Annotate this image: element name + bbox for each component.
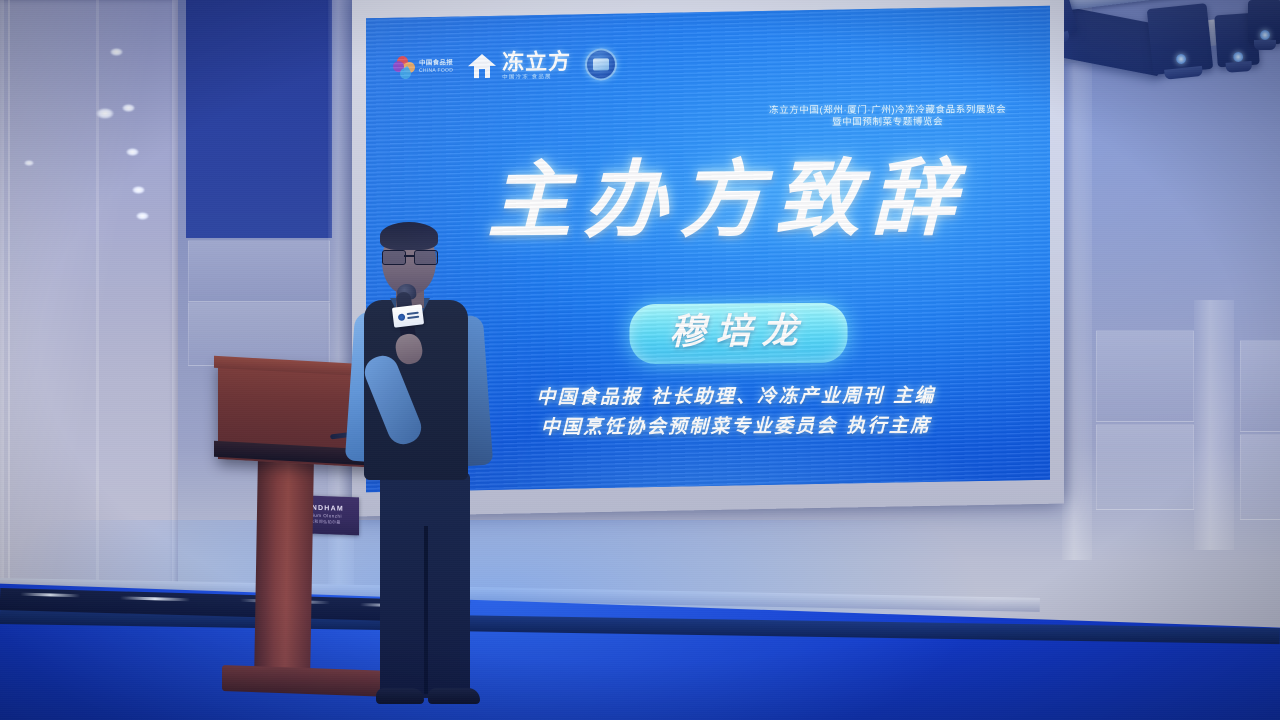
stage-spotlight — [1248, 0, 1280, 44]
cctv-logo-text: 中国食品报 CHINA FOOD — [419, 59, 453, 73]
wall-panel — [1240, 434, 1280, 520]
slide-main-title: 主办方致辞 — [487, 150, 967, 249]
glasses-icon — [382, 250, 438, 264]
sponsor-logo-row: 中国食品报 CHINA FOOD 冻立方 中国冷冻 食品展 — [392, 48, 617, 83]
mic-flag-logo-icon — [397, 313, 405, 321]
wall-panel — [188, 302, 330, 366]
ceiling-pinlight — [122, 104, 135, 112]
spotlight-lens — [1260, 30, 1270, 40]
left-dark-panel — [186, 0, 332, 238]
shoe-right — [428, 688, 480, 704]
rail-glint — [20, 593, 80, 598]
ceiling-pinlight — [132, 186, 145, 194]
ceiling-pinlight — [126, 148, 139, 156]
brand-subtitle: 中国冷冻 食品展 — [502, 74, 552, 81]
house-arrow-icon — [467, 53, 497, 79]
cctv-logo-line2: CHINA FOOD — [419, 67, 453, 73]
stage-spotlight — [1147, 3, 1214, 75]
wall-panel — [188, 240, 330, 302]
speaker-name-badge: 穆培龙 — [630, 303, 848, 364]
dong-li-fang-brand: 冻立方 中国冷冻 食品展 — [502, 50, 571, 80]
wall-panel — [1240, 340, 1280, 432]
event-header: 冻立方中国(郑州·厦门·广州)冷冻冷藏食品系列展览会 暨中国预制菜专题博览会 — [769, 104, 1006, 129]
wall-seam — [0, 0, 4, 640]
speaker-figure — [336, 226, 506, 696]
ceiling-pinlight — [136, 212, 149, 220]
wall-sconce-light — [96, 108, 114, 119]
mic-flag-text — [406, 312, 419, 319]
ceiling-pinlight — [24, 160, 34, 166]
hair — [380, 222, 438, 250]
leg-split — [424, 526, 428, 694]
circular-seal-logo-icon — [585, 48, 617, 80]
cctv-flower-logo: 中国食品报 CHINA FOOD — [392, 55, 453, 78]
wall-seam — [172, 0, 178, 648]
spotlight-lens — [1176, 53, 1187, 64]
wall-panel — [1096, 330, 1194, 422]
dong-li-fang-logo: 冻立方 中国冷冻 食品展 — [467, 50, 571, 80]
speaker-title-line1: 中国食品报 社长助理、冷冻产业周刊 主编 — [536, 381, 935, 413]
speaker-titles: 中国食品报 社长助理、冷冻产业周刊 主编 中国烹饪协会预制菜专业委员会 执行主席 — [536, 381, 935, 443]
left-marble-wall — [0, 0, 178, 640]
microphone-flag — [392, 304, 424, 328]
spotlight-lens — [1233, 52, 1244, 63]
event-header-line2: 暨中国预制菜专题博览会 — [769, 116, 1006, 129]
rail-glint — [120, 596, 190, 601]
cctv-logo-line1: 中国食品报 — [419, 59, 453, 66]
speaker-name: 穆培龙 — [670, 311, 808, 352]
speaker-title-line2: 中国烹饪协会预制菜专业委员会 执行主席 — [536, 411, 935, 443]
wall-pillar — [1062, 0, 1092, 560]
brand-name: 冻立方 — [502, 50, 571, 73]
podium-column — [254, 460, 314, 678]
ceiling-pinlight — [110, 48, 123, 56]
shoe-left — [376, 688, 424, 704]
stage-photo-scene: 中国食品报 CHINA FOOD 冻立方 中国冷冻 食品展 — [0, 0, 1280, 720]
flower-icon — [392, 56, 414, 78]
wall-panel — [1096, 424, 1194, 510]
event-header-line1: 冻立方中国(郑州·厦门·广州)冷冻冷藏食品系列展览会 — [769, 104, 1006, 117]
wall-pillar — [1194, 300, 1234, 550]
